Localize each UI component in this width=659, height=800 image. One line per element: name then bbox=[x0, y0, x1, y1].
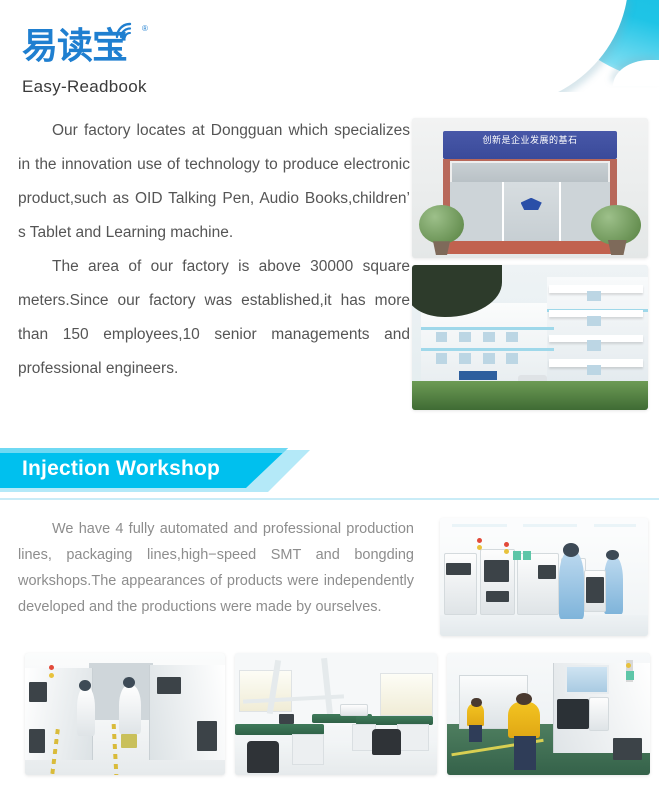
company-description-text: Our factory locates at Dongguan which sp… bbox=[18, 114, 410, 386]
smt-operators-artwork bbox=[447, 653, 650, 775]
entrance-sign-text: 创新是企业发展的基石 bbox=[464, 133, 596, 153]
smt-line-artwork bbox=[25, 653, 225, 775]
company-photo-column: 创新是企业发展的基石 bbox=[412, 118, 648, 410]
cleanroom-artwork bbox=[440, 518, 648, 636]
section-banner-injection-workshop: Injection Workshop bbox=[0, 448, 659, 492]
registered-trademark-icon: ® bbox=[142, 24, 148, 33]
smt-operators-photo bbox=[447, 653, 650, 775]
smt-line-photo-cell bbox=[25, 653, 225, 775]
brand-logo: 易读宝 ® Easy-Readbook bbox=[22, 24, 182, 102]
injection-description-block: We have 4 fully automated and profession… bbox=[18, 516, 414, 620]
test-lab-photo-cell bbox=[235, 653, 437, 775]
factory-entrance-artwork: 创新是企业发展的基石 bbox=[412, 118, 648, 258]
test-lab-artwork bbox=[235, 653, 437, 775]
smt-operators-photo-cell bbox=[447, 653, 650, 775]
factory-building-artwork bbox=[412, 265, 648, 410]
banner-title: Injection Workshop bbox=[22, 457, 220, 481]
page-curl-decoration bbox=[539, 0, 659, 92]
injection-paragraph: We have 4 fully automated and profession… bbox=[18, 516, 414, 620]
logo-wordmark: Easy-Readbook bbox=[22, 77, 182, 97]
section-divider-line bbox=[0, 498, 659, 500]
wifi-arc-icon bbox=[114, 18, 140, 40]
page-curl-tip bbox=[613, 60, 659, 86]
logo-mark: 易读宝 ® bbox=[22, 24, 150, 72]
company-paragraph-2: The area of our factory is above 30000 s… bbox=[18, 250, 410, 386]
page-curl-cyan-fill bbox=[539, 0, 659, 92]
page-curl-white-fold bbox=[539, 0, 627, 92]
test-lab-photo bbox=[235, 653, 437, 775]
factory-building-photo bbox=[412, 265, 648, 410]
injection-photo-row bbox=[0, 653, 659, 777]
smt-line-photo bbox=[25, 653, 225, 775]
cleanroom-photo bbox=[440, 518, 648, 636]
company-paragraph-1: Our factory locates at Dongguan which sp… bbox=[18, 114, 410, 250]
factory-entrance-photo: 创新是企业发展的基石 bbox=[412, 118, 648, 258]
